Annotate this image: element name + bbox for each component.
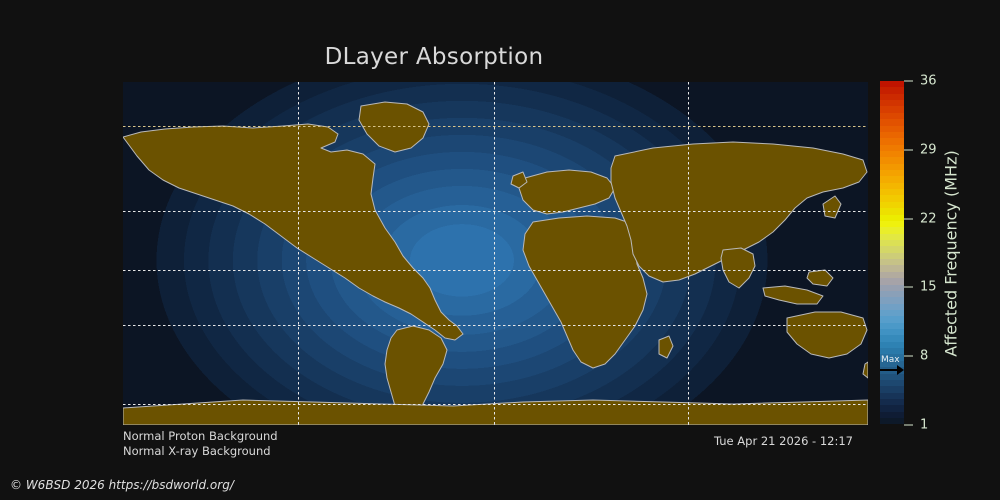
gridline-longitude-90e	[688, 82, 689, 425]
colorbar-tick-label: 8	[920, 350, 928, 363]
coastlines-layer	[123, 82, 868, 425]
land-new-zealand	[863, 362, 868, 378]
gridline-latitude-23s	[123, 325, 868, 326]
gridline-latitude-23n	[123, 211, 868, 212]
colorbar-tick-label: 1	[920, 419, 928, 432]
gridline-latitude-equator	[123, 270, 868, 271]
colorbar-segment	[880, 418, 904, 424]
tick-dash-icon	[904, 218, 913, 219]
land-madagascar	[659, 336, 673, 358]
colorbar-tick-label: 15	[920, 281, 937, 294]
land-japan	[823, 196, 841, 218]
colorbar-tick-label: 29	[920, 143, 937, 156]
tick-dash-icon	[904, 81, 913, 82]
colorbar-tick: 22	[904, 212, 937, 225]
world-map[interactable]	[123, 82, 868, 425]
land-europe	[519, 170, 615, 214]
land-north-america	[123, 124, 463, 340]
land-indonesia	[763, 286, 823, 304]
colorbar-axis-label: Affected Frequency (MHz)	[941, 81, 961, 425]
land-india	[721, 248, 755, 288]
colorbar-tick: 29	[904, 143, 937, 156]
land-africa	[523, 216, 647, 368]
tick-dash-icon	[904, 287, 913, 288]
land-greenland	[359, 102, 429, 152]
colorbar-max-marker: Max	[880, 356, 904, 365]
colorbar-tick: 15	[904, 281, 937, 294]
gridline-latitude-60s	[123, 404, 868, 405]
tick-dash-icon	[904, 356, 913, 357]
colorbar-max-label: Max	[880, 356, 904, 365]
colorbar-tick-label: 22	[920, 212, 937, 225]
gridline-longitude-90w	[298, 82, 299, 425]
figure-root: DLayer Absorption	[0, 0, 1000, 500]
tick-dash-icon	[904, 425, 913, 426]
timestamp: Tue Apr 21 2026 - 12:17	[0, 434, 853, 448]
land-philippines	[807, 270, 833, 286]
credit-text: © W6BSD 2026 https://bsdworld.org/	[10, 478, 234, 492]
colorbar-tick: 1	[904, 419, 928, 432]
colorbar-tick: 36	[904, 75, 937, 88]
colorbar-tick-label: 36	[920, 75, 937, 88]
gridline-latitude-66n	[123, 126, 868, 127]
tick-dash-icon	[904, 149, 913, 150]
land-australia	[787, 312, 867, 358]
page-title: DLayer Absorption	[0, 44, 868, 70]
colorbar-tick: 8	[904, 350, 928, 363]
gridline-longitude-0	[494, 82, 495, 425]
